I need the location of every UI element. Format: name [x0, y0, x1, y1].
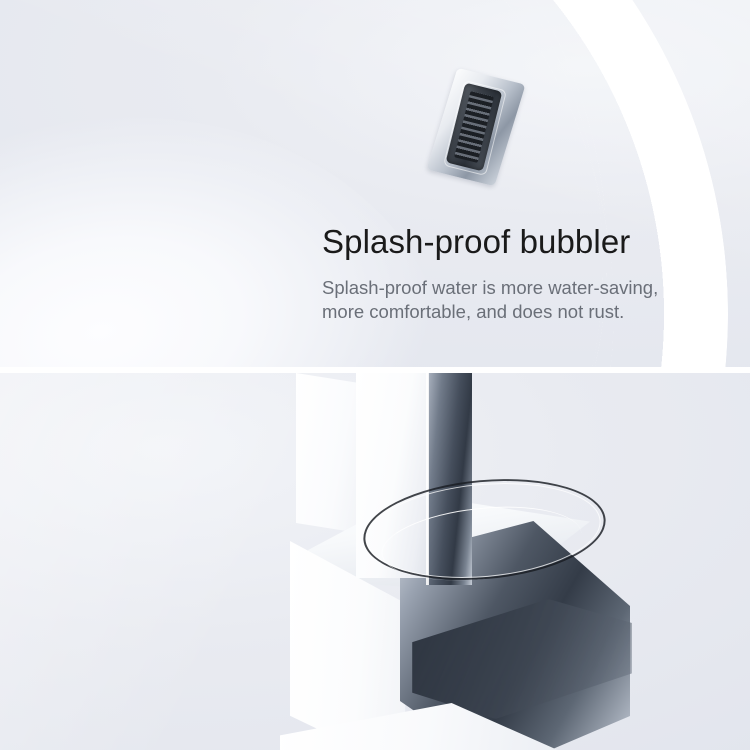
panel-splash-proof-bubbler: Splash-proof bubbler Splash-proof water …: [0, 0, 750, 367]
aerator-grille-icon: [446, 83, 503, 172]
column-light-face: [356, 373, 430, 578]
column-edge-highlight: [426, 373, 429, 585]
body-line-1: Splash-proof water is more water-saving,: [322, 276, 732, 300]
riser-left-face: [296, 373, 400, 539]
aerator-slots: [454, 91, 494, 163]
aerator-rim: [443, 80, 507, 176]
base-plate: [280, 703, 610, 750]
callout-splash-proof-bubbler: Splash-proof bubbler Splash-proof water …: [322, 222, 732, 324]
body-top-face: [290, 491, 590, 593]
column-dark-face: [428, 373, 472, 585]
body-line-2: more comfortable, and does not rust.: [322, 300, 732, 324]
riser-right-face: [397, 373, 453, 521]
rotation-ring-icon: [359, 470, 610, 590]
body-front-face: [400, 521, 630, 750]
heading-splash-proof-bubbler: Splash-proof bubbler: [322, 222, 732, 262]
rotation-ring-seam: [378, 498, 585, 590]
spout-end-cap: [427, 68, 526, 186]
panel-360-rotation: 360 ° rotation Rotate as you like! More …: [0, 373, 750, 750]
body-splash-proof-bubbler: Splash-proof water is more water-saving,…: [322, 276, 732, 324]
rotation-ring-highlight: [362, 474, 604, 587]
body-left-face: [290, 541, 470, 750]
body-reflection-band: [412, 599, 632, 719]
panel-sheen-overlay-bottom: [0, 373, 750, 750]
product-feature-infographic: Splash-proof bubbler Splash-proof water …: [0, 0, 750, 750]
